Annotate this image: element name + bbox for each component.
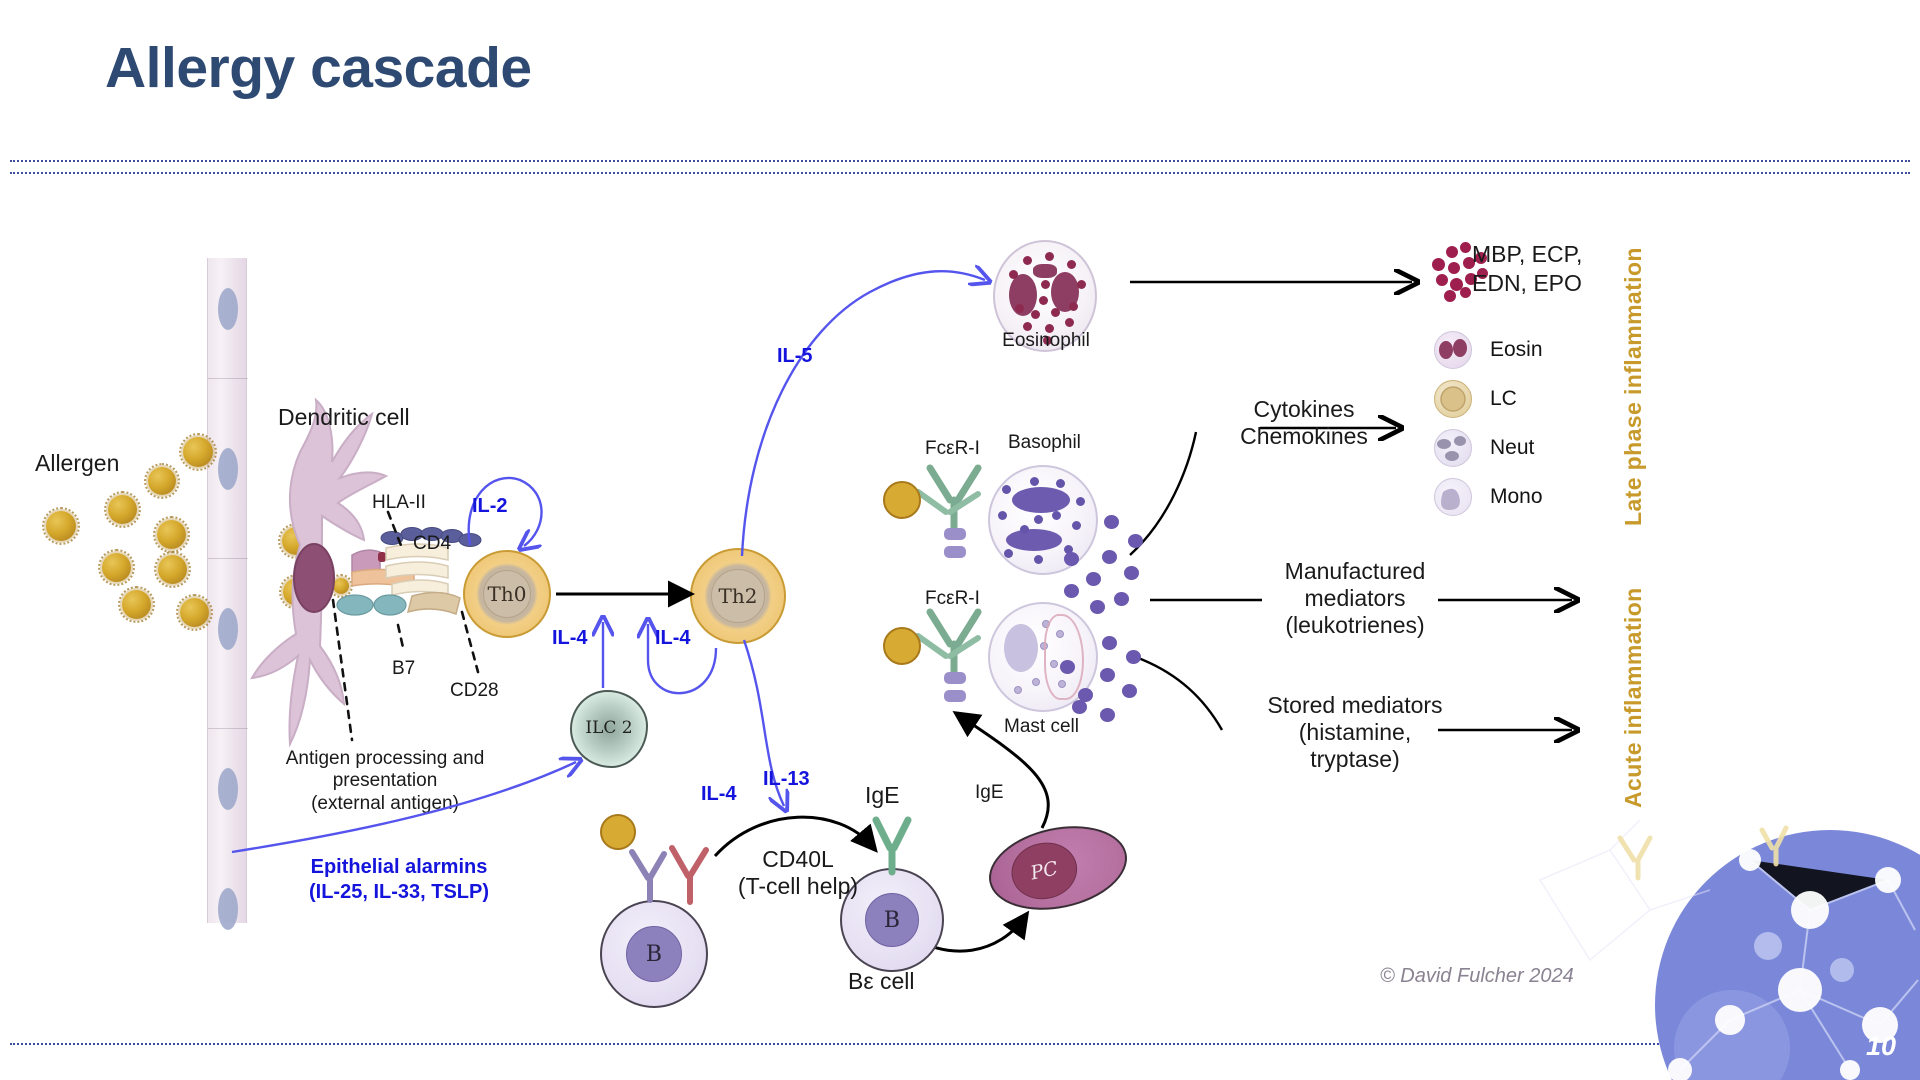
ige-label-top: IgE [865,782,900,809]
epithelial-alarmins-label: Epithelial alarmins (IL-25, IL-33, TSLP) [284,855,514,905]
late-phase-inflammation-label: Late phase inflammation [1620,196,1647,526]
dendritic-cell-label: Dendritic cell [278,404,410,431]
th2-cell: Th2 [690,548,786,644]
allergen-particle [148,467,176,495]
hla-ii-label: HLA-II [372,492,426,514]
allergen-label: Allergen [35,450,119,477]
header-divider-top [10,160,1910,162]
allergen-particle [183,437,213,467]
legend-label-lc: LC [1490,387,1517,411]
epithelial-nucleus [218,888,238,930]
epithelial-nucleus [218,288,238,330]
fceri-label-bottom: FcεR-I [925,588,980,610]
ige-label-right: IgE [975,782,1004,804]
antigen-processing-label: Antigen processing and presentation (ext… [276,748,494,815]
monocyte-legend-icon [1434,478,1472,516]
page-title: Allergy cascade [105,35,532,101]
allergen-particle [108,495,137,524]
naive-b-cell: B [600,900,708,1008]
il13-label: IL-13 [763,768,810,791]
header-divider-bottom [10,172,1910,174]
eosinophil-caption: Eosinophil [990,330,1102,352]
slide-canvas: Allergy cascade Allergen Dendritic cell [0,0,1920,1080]
th0-label: Th0 [483,570,532,619]
be-cell-caption: Bε cell [848,968,915,995]
ilc2-cell: ILC 2 [570,690,648,768]
epithelium-barrier [207,258,247,923]
neutrophil-legend-icon [1434,429,1472,467]
allergen-particle [157,520,186,549]
plasma-cell: PC [981,814,1135,921]
basophil-cell [988,465,1098,575]
allergen-particle-internalised [333,578,349,594]
il4-label-bcell: IL-4 [701,783,737,806]
langerhans-cell-legend-icon [1434,380,1472,418]
b7-label: B7 [392,658,415,680]
th2-label: Th2 [711,569,764,622]
mast-cell-caption: Mast cell [1004,716,1079,738]
th0-cell: Th0 [463,550,551,638]
manufactured-mediators-label: Manufactured mediators (leukotrienes) [1260,558,1450,639]
decorative-network-graphic [1500,820,1920,1080]
footer-divider [10,1043,1910,1045]
cd4-label: CD4 [413,533,451,555]
allergen-particle-captured [282,527,310,555]
legend-label-eosin: Eosin [1490,338,1543,362]
ilc2-label: ILC 2 [585,720,632,738]
b-cell-label: B [626,926,682,982]
il2-label: IL-2 [472,495,508,518]
fceri-label-top: FcεR-I [925,438,980,460]
il5-label: IL-5 [777,345,813,368]
page-number: 10 [1866,1031,1896,1062]
legend-label-neut: Neut [1490,436,1534,460]
epithelial-nucleus [218,448,238,490]
eosinophil-legend-icon [1434,331,1472,369]
copyright-notice: © David Fulcher 2024 [1380,965,1574,988]
basophil-caption: Basophil [1008,432,1081,454]
epithelial-nucleus [218,768,238,810]
cd28-label: CD28 [450,680,499,702]
epithelial-nucleus [218,608,238,650]
allergen-particle [180,598,209,627]
allergen-particle-captured [283,578,311,606]
stored-mediators-label: Stored mediators (histamine, tryptase) [1250,692,1460,773]
il4-label-autocrine: IL-4 [655,627,691,650]
legend-label-mono: Mono [1490,485,1543,509]
granule-proteins-label: MBP, ECP, EDN, EPO [1472,240,1582,298]
plasma-cell-label: PC [1007,837,1083,906]
allergen-particle [46,511,76,541]
allergen-particle [122,590,151,619]
il4-label-ilc2: IL-4 [552,627,588,650]
cd40l-label: CD40L (T-cell help) [718,846,878,900]
allergen-particle [102,553,131,582]
be-cell-label: B [865,893,919,947]
acute-inflammation-label: Acute inflammation [1620,548,1647,808]
cytokines-chemokines-label: Cytokines Chemokines [1214,396,1394,450]
allergen-particle [158,555,187,584]
